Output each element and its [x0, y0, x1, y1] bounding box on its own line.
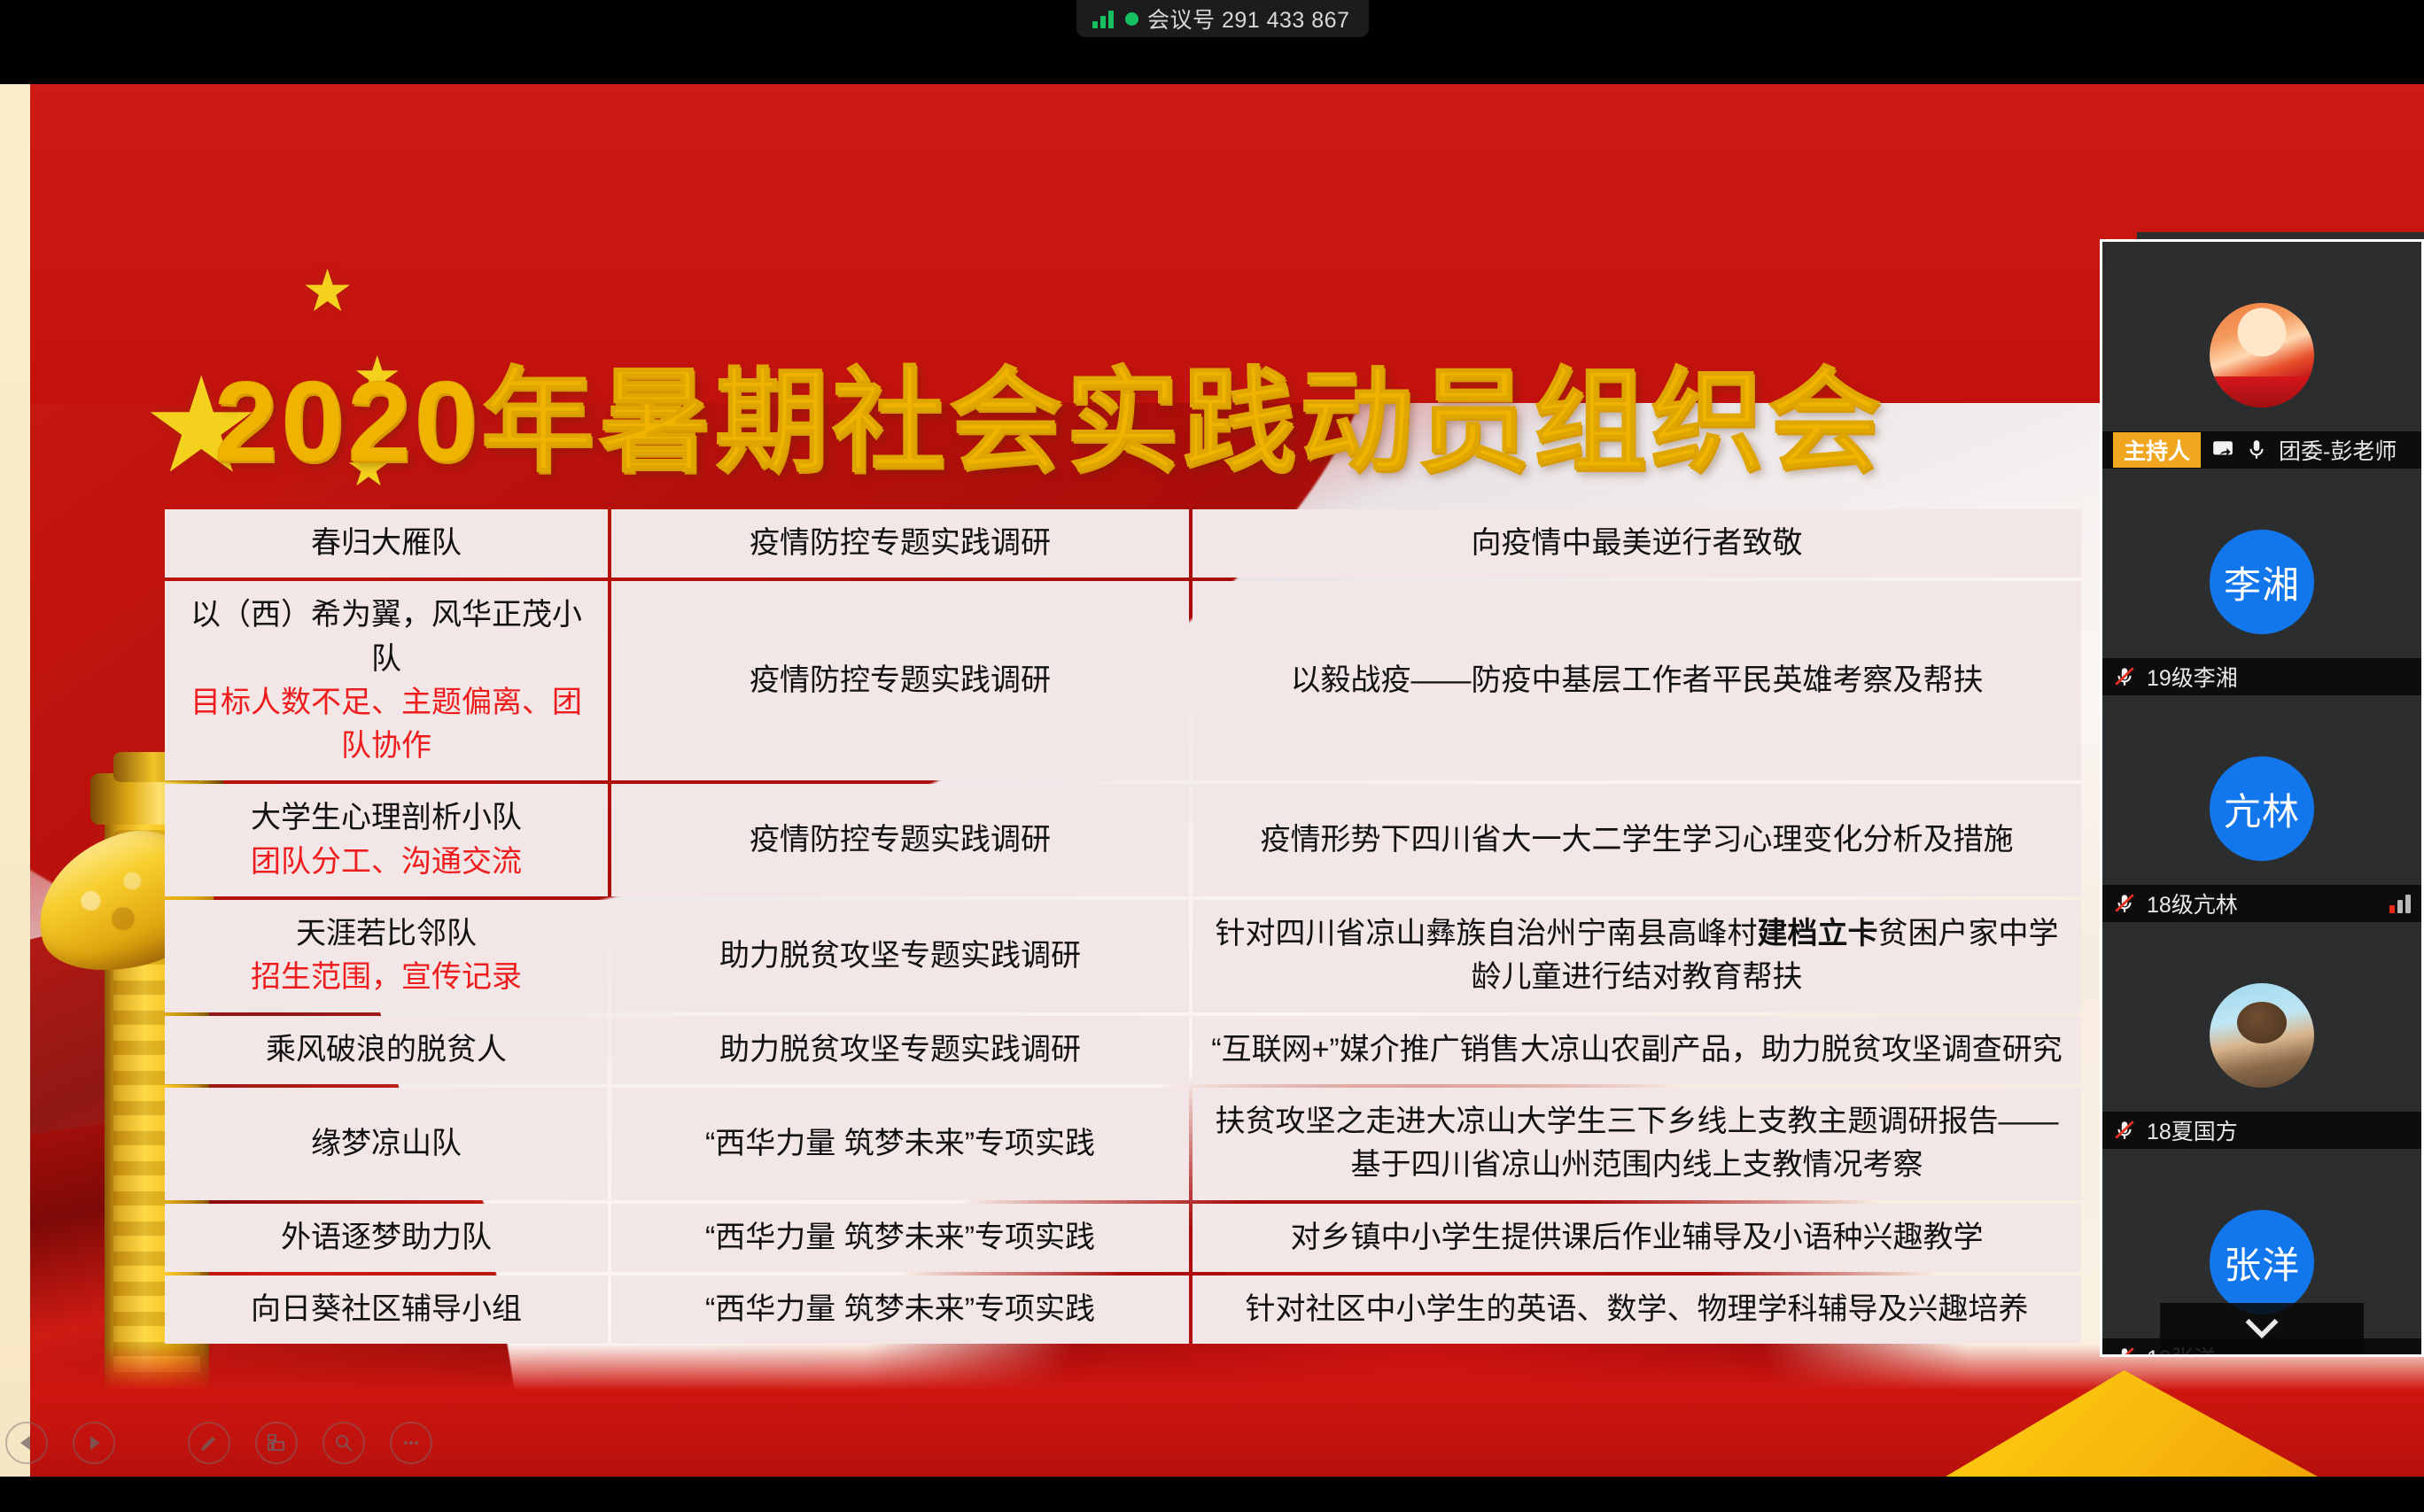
- team-label: 大学生心理剖析小队: [251, 801, 522, 834]
- avatar: 亢林: [2210, 756, 2314, 861]
- mic-muted-icon[interactable]: [2113, 1119, 2136, 1142]
- cell-topic: 针对社区中小学生的英语、数学、物理学科辅导及兴趣培养: [1193, 1276, 2081, 1344]
- annotate-pen-icon[interactable]: [188, 1422, 230, 1464]
- cell-category: “西华力量 筑梦未来”专项实践: [611, 1088, 1189, 1200]
- mic-muted-icon[interactable]: [2113, 665, 2136, 688]
- participant-video-panel[interactable]: 主持人团委-彭老师李湘19级李湘亢林18级亢林18夏国方张洋19张洋: [2100, 239, 2424, 1357]
- cell-topic: 向疫情中最美逆行者致敬: [1193, 509, 2081, 578]
- cell-topic: 以毅战疫——防疫中基层工作者平民英雄考察及帮扶: [1193, 581, 2081, 780]
- meeting-id-label: 会议号 291 433 867: [1147, 3, 1349, 35]
- cell-team-name: 外语逐梦助力队: [165, 1204, 608, 1272]
- cell-team-name: 天涯若比邻队招生范围，宣传记录: [165, 900, 608, 1012]
- topic-highlight: 建档立卡: [1758, 917, 1878, 950]
- signal-bars-icon: [1092, 9, 1114, 28]
- mic-muted-icon[interactable]: [2113, 892, 2136, 915]
- team-label: 向日葵社区辅导小组: [251, 1292, 522, 1326]
- chevron-down-icon: [2242, 1315, 2281, 1342]
- team-label: 春归大雁队: [311, 526, 462, 560]
- cell-topic: 扶贫攻坚之走进大凉山大学生三下乡线上支教主题调研报告——基于四川省凉山州范围内线…: [1193, 1088, 2081, 1200]
- scroll-down-button[interactable]: [2160, 1303, 2364, 1354]
- team-label: 天涯若比邻队: [296, 917, 477, 950]
- recording-dot-icon: [1125, 12, 1138, 26]
- mic-muted-icon[interactable]: [2113, 1345, 2136, 1357]
- avatar: 张洋: [2210, 1210, 2314, 1314]
- team-label: 外语逐梦助力队: [281, 1221, 492, 1254]
- slide-thumbnails-grid-icon[interactable]: [255, 1422, 298, 1464]
- table-row: 天涯若比邻队招生范围，宣传记录助力脱贫攻坚专题实践调研针对四川省凉山彝族自治州宁…: [165, 900, 2081, 1012]
- host-badge: 主持人: [2113, 432, 2201, 468]
- meeting-id-pill[interactable]: 会议号 291 433 867: [1076, 0, 1369, 37]
- team-note: 目标人数不足、主题偏离、团队协作: [179, 681, 594, 769]
- cell-team-name: 缘梦凉山队: [165, 1088, 608, 1200]
- avatar: [2210, 303, 2314, 407]
- cell-team-name: 大学生心理剖析小队团队分工、沟通交流: [165, 784, 608, 896]
- table-row: 以（西）希为翼，风华正茂小队目标人数不足、主题偏离、团队协作疫情防控专题实践调研…: [165, 581, 2081, 780]
- network-signal-icon: [2389, 894, 2411, 913]
- participant-name: 18夏国方: [2147, 1114, 2238, 1146]
- team-label: 乘风破浪的脱贫人: [266, 1033, 507, 1066]
- cell-topic: 对乡镇中小学生提供课后作业辅导及小语种兴趣教学: [1193, 1204, 2081, 1272]
- presentation-slide: ★ ★ ★ ★ ★ 2020年暑期社会实践动员组织会 春归大雁队疫情防控专题实践…: [0, 84, 2424, 1477]
- next-slide-button[interactable]: [73, 1422, 115, 1464]
- mic-on-icon[interactable]: [2245, 438, 2268, 461]
- cell-category: “西华力量 筑梦未来”专项实践: [611, 1204, 1189, 1272]
- table-row: 乘风破浪的脱贫人助力脱贫攻坚专题实践调研“互联网+”媒介推广销售大凉山农副产品，…: [165, 1016, 2081, 1084]
- shared-screen-stage[interactable]: ★ ★ ★ ★ ★ 2020年暑期社会实践动员组织会 春归大雁队疫情防控专题实践…: [0, 84, 2424, 1477]
- cell-category: 疫情防控专题实践调研: [611, 581, 1189, 780]
- prev-slide-button[interactable]: [5, 1422, 48, 1464]
- participant-name-bar: 主持人团委-彭老师: [2102, 431, 2421, 469]
- screen-share-icon: [2211, 438, 2234, 461]
- participant-name: 团委-彭老师: [2279, 434, 2397, 466]
- cell-team-name: 春归大雁队: [165, 509, 608, 578]
- participant-name: 18级亢林: [2147, 888, 2238, 919]
- team-note: 团队分工、沟通交流: [179, 841, 594, 884]
- cell-topic: 针对四川省凉山彝族自治州宁南县高峰村建档立卡贫困户家中学龄儿童进行结对教育帮扶: [1193, 900, 2081, 1012]
- more-options-ellipsis-icon[interactable]: [390, 1422, 432, 1464]
- left-cream-edge: [0, 84, 30, 1477]
- team-label: 缘梦凉山队: [311, 1127, 462, 1160]
- participant-tile[interactable]: 18夏国方: [2102, 922, 2421, 1149]
- team-note: 招生范围，宣传记录: [179, 956, 594, 999]
- table-row: 春归大雁队疫情防控专题实践调研向疫情中最美逆行者致敬: [165, 509, 2081, 578]
- cell-topic: 疫情形势下四川省大一大二学生学习心理变化分析及措施: [1193, 784, 2081, 896]
- cell-category: 助力脱贫攻坚专题实践调研: [611, 1016, 1189, 1084]
- cell-category: 疫情防控专题实践调研: [611, 784, 1189, 896]
- participant-name-bar: 18夏国方: [2102, 1112, 2421, 1149]
- participant-tile[interactable]: 李湘19级李湘: [2102, 469, 2421, 695]
- table-row: 大学生心理剖析小队团队分工、沟通交流疫情防控专题实践调研疫情形势下四川省大一大二…: [165, 784, 2081, 896]
- slide-title: 2020年暑期社会实践动员组织会: [214, 366, 1884, 479]
- top-bar: 会议号 291 433 867: [0, 0, 2424, 84]
- cell-team-name: 向日葵社区辅导小组: [165, 1276, 608, 1344]
- avatar: [2210, 983, 2314, 1088]
- magnifier-icon[interactable]: [322, 1422, 365, 1464]
- cell-team-name: 乘风破浪的脱贫人: [165, 1016, 608, 1084]
- cell-category: 疫情防控专题实践调研: [611, 509, 1189, 578]
- participant-name-bar: 19级李湘: [2102, 658, 2421, 695]
- participant-name-bar: 18级亢林: [2102, 885, 2421, 922]
- avatar: 李湘: [2210, 530, 2314, 634]
- star-icon: ★: [301, 261, 353, 320]
- zoom-meeting-screen: 会议号 291 433 867 ★ ★ ★ ★ ★ 2020年暑期社: [0, 0, 2424, 1512]
- table-row: 缘梦凉山队“西华力量 筑梦未来”专项实践扶贫攻坚之走进大凉山大学生三下乡线上支教…: [165, 1088, 2081, 1200]
- participant-tile[interactable]: 主持人团委-彭老师: [2102, 242, 2421, 469]
- table-row: 向日葵社区辅导小组“西华力量 筑梦未来”专项实践针对社区中小学生的英语、数学、物…: [165, 1276, 2081, 1344]
- cell-topic: “互联网+”媒介推广销售大凉山农副产品，助力脱贫攻坚调查研究: [1193, 1016, 2081, 1084]
- table-row: 外语逐梦助力队“西华力量 筑梦未来”专项实践对乡镇中小学生提供课后作业辅导及小语…: [165, 1204, 2081, 1272]
- cell-category: 助力脱贫攻坚专题实践调研: [611, 900, 1189, 1012]
- slide-toolbar[interactable]: [5, 1422, 432, 1464]
- participant-tile[interactable]: 亢林18级亢林: [2102, 695, 2421, 922]
- participant-name: 19级李湘: [2147, 661, 2238, 693]
- cell-team-name: 以（西）希为翼，风华正茂小队目标人数不足、主题偏离、团队协作: [165, 581, 608, 780]
- cell-category: “西华力量 筑梦未来”专项实践: [611, 1276, 1189, 1344]
- team-label: 以（西）希为翼，风华正茂小队: [190, 598, 582, 675]
- practice-teams-table: 春归大雁队疫情防控专题实践调研向疫情中最美逆行者致敬以（西）希为翼，风华正茂小队…: [165, 509, 2081, 1347]
